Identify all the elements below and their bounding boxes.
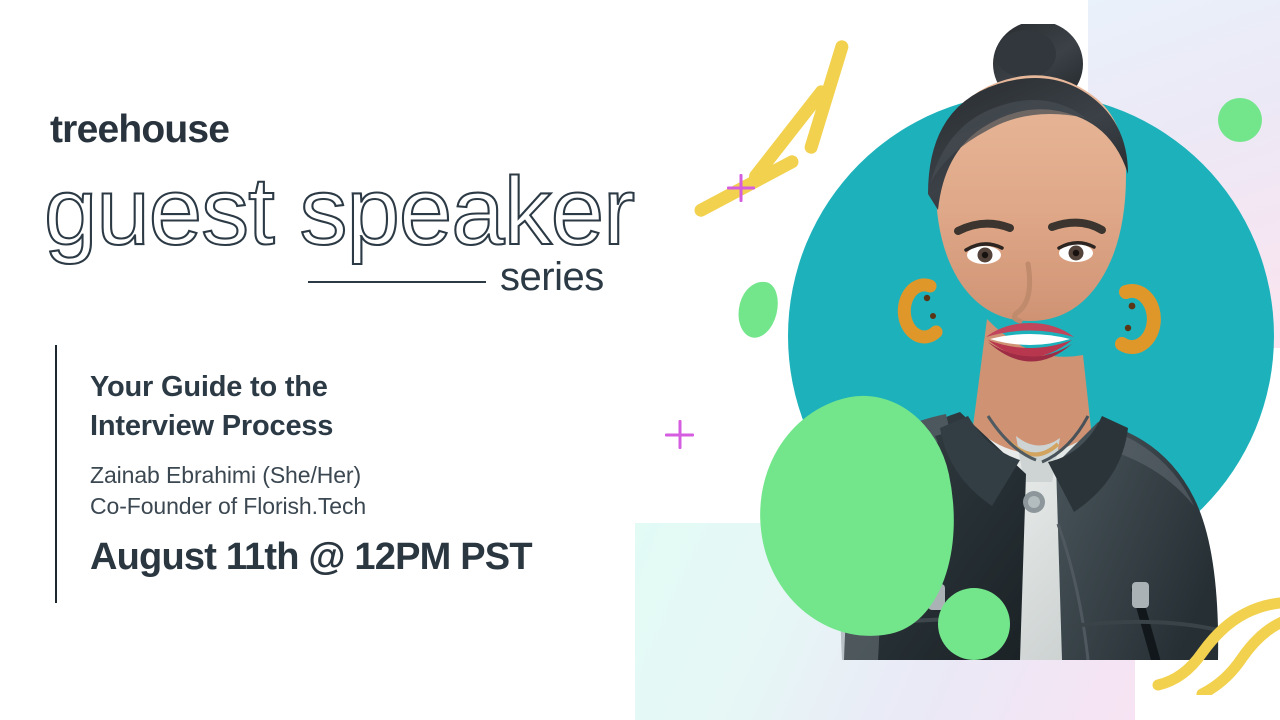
brand-wordmark: treehouse — [50, 110, 229, 149]
green-circle-bottom-icon — [938, 588, 1010, 660]
magenta-plus-upper-icon — [727, 174, 755, 202]
talk-title: Your Guide to the Interview Process — [90, 368, 630, 446]
yellow-squiggle-group-icon — [1150, 570, 1280, 695]
svg-text:guest speaker: guest speaker — [44, 158, 634, 265]
event-datetime: August 11th @ 12PM PST — [90, 537, 630, 579]
magenta-plus-lower-icon — [665, 420, 694, 449]
talk-details-block: Your Guide to the Interview Process Zain… — [90, 368, 630, 579]
series-label: series — [500, 257, 604, 297]
speaker-role: Co-Founder of Florish.Tech — [90, 491, 630, 522]
green-blob-small-icon — [733, 277, 784, 341]
promo-slide: treehouse guest speaker series Your Guid… — [0, 0, 1280, 720]
speaker-name: Zainab Ebrahimi (She/Her) — [90, 460, 630, 491]
headline-guest-speaker: guest speaker — [44, 158, 644, 268]
series-divider-rule — [308, 281, 486, 283]
left-accent-rule — [55, 345, 57, 603]
